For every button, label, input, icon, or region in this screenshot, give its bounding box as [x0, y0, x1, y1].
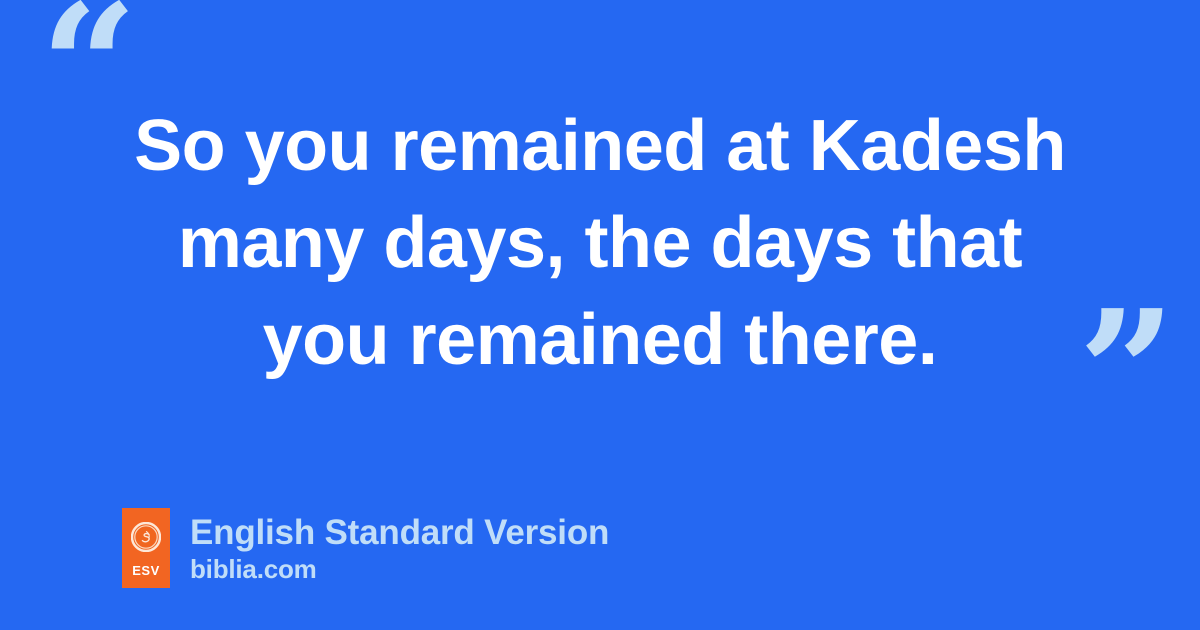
quote-line-2: many days, the days that [60, 195, 1140, 292]
bible-verse-card: “ So you remained at Kadesh many days, t… [0, 0, 1200, 630]
esv-badge-label: ESV [132, 564, 160, 577]
quote-text: So you remained at Kadesh many days, the… [60, 98, 1140, 389]
closing-quote-mark: ” [1078, 288, 1176, 458]
attribution: ESV English Standard Version biblia.com [122, 508, 609, 588]
version-name: English Standard Version [190, 513, 609, 553]
esv-badge: ESV [122, 508, 170, 588]
site-url: biblia.com [190, 554, 609, 584]
quote-line-1: So you remained at Kadesh [60, 98, 1140, 195]
quote-line-3: you remained there. [60, 292, 1140, 389]
esv-seal-icon [131, 522, 161, 557]
attribution-text: English Standard Version biblia.com [190, 513, 609, 584]
